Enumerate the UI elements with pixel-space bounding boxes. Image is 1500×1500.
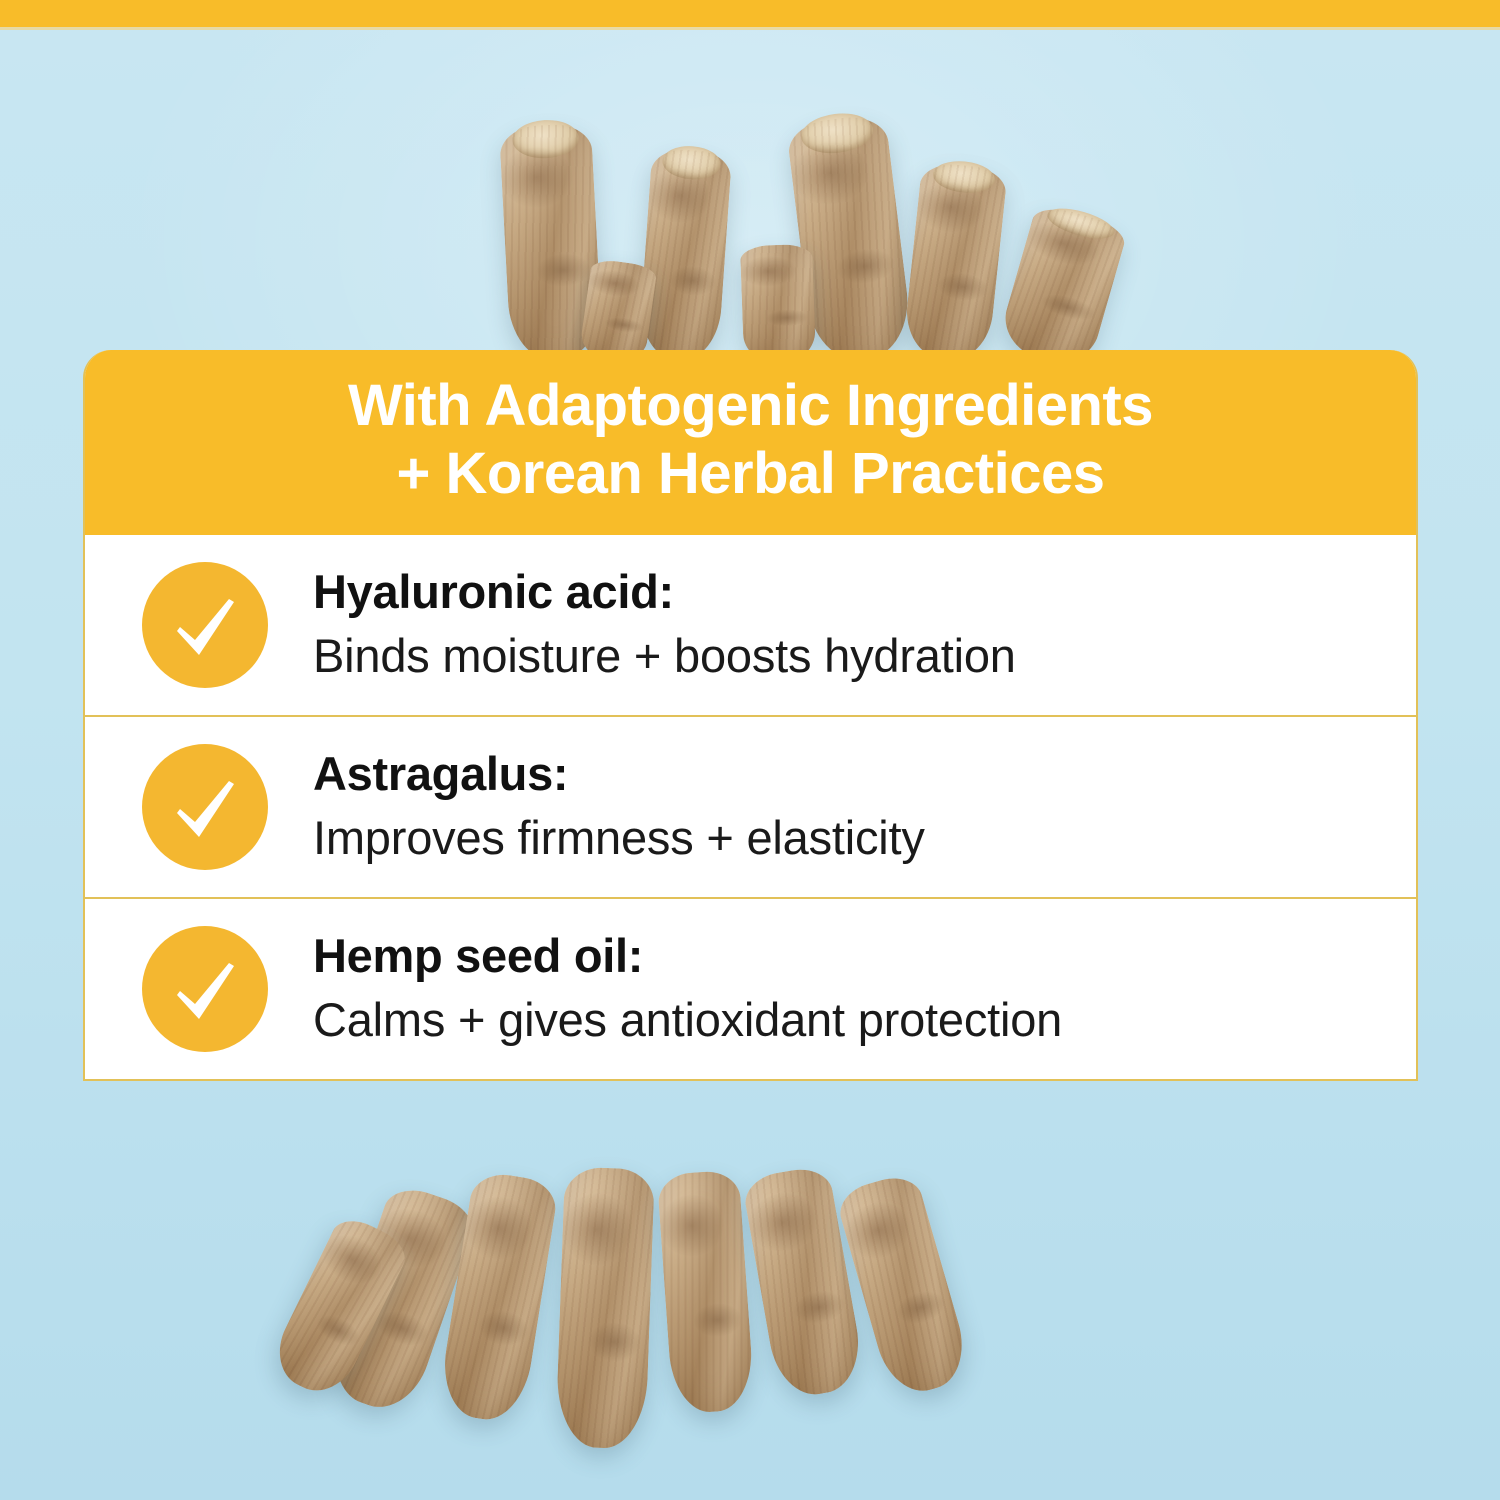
ingredient-text: Astragalus: Improves firmness + elastici… — [313, 747, 1386, 866]
check-badge — [141, 743, 269, 871]
root-piece — [555, 1167, 655, 1450]
ingredients-card: With Adaptogenic Ingredients + Korean He… — [83, 350, 1418, 1081]
ingredient-row: Hyaluronic acid: Binds moisture + boosts… — [85, 535, 1416, 715]
root-piece — [902, 161, 1008, 364]
ingredient-description: Calms + gives antioxidant protection — [313, 992, 1386, 1048]
header-line-1: With Adaptogenic Ingredients — [125, 372, 1376, 440]
ingredient-description: Binds moisture + boosts hydration — [313, 628, 1386, 684]
ingredient-row: Astragalus: Improves firmness + elastici… — [85, 715, 1416, 897]
ingredient-title: Hemp seed oil: — [313, 929, 1386, 984]
header-line-2: + Korean Herbal Practices — [125, 440, 1376, 508]
ingredient-row: Hemp seed oil: Calms + gives antioxidant… — [85, 897, 1416, 1079]
ingredient-text: Hemp seed oil: Calms + gives antioxidant… — [313, 929, 1386, 1048]
root-piece — [638, 147, 732, 362]
astragalus-roots-bottom — [0, 1150, 1500, 1500]
check-icon — [142, 926, 268, 1052]
root-piece — [740, 244, 816, 364]
ingredient-title: Astragalus: — [313, 747, 1386, 802]
root-piece — [657, 1169, 756, 1414]
check-badge — [141, 925, 269, 1053]
ingredient-description: Improves firmness + elasticity — [313, 810, 1386, 866]
product-infographic: With Adaptogenic Ingredients + Korean He… — [0, 0, 1500, 1500]
top-accent-bar-edge — [0, 27, 1500, 30]
check-badge — [141, 561, 269, 689]
ingredient-text: Hyaluronic acid: Binds moisture + boosts… — [313, 565, 1386, 684]
root-piece — [996, 202, 1129, 372]
check-icon — [142, 562, 268, 688]
top-accent-bar — [0, 0, 1500, 27]
astragalus-roots-top — [0, 0, 1500, 360]
check-icon — [142, 744, 268, 870]
card-header: With Adaptogenic Ingredients + Korean He… — [85, 350, 1416, 535]
ingredient-title: Hyaluronic acid: — [313, 565, 1386, 620]
root-piece — [834, 1171, 974, 1401]
